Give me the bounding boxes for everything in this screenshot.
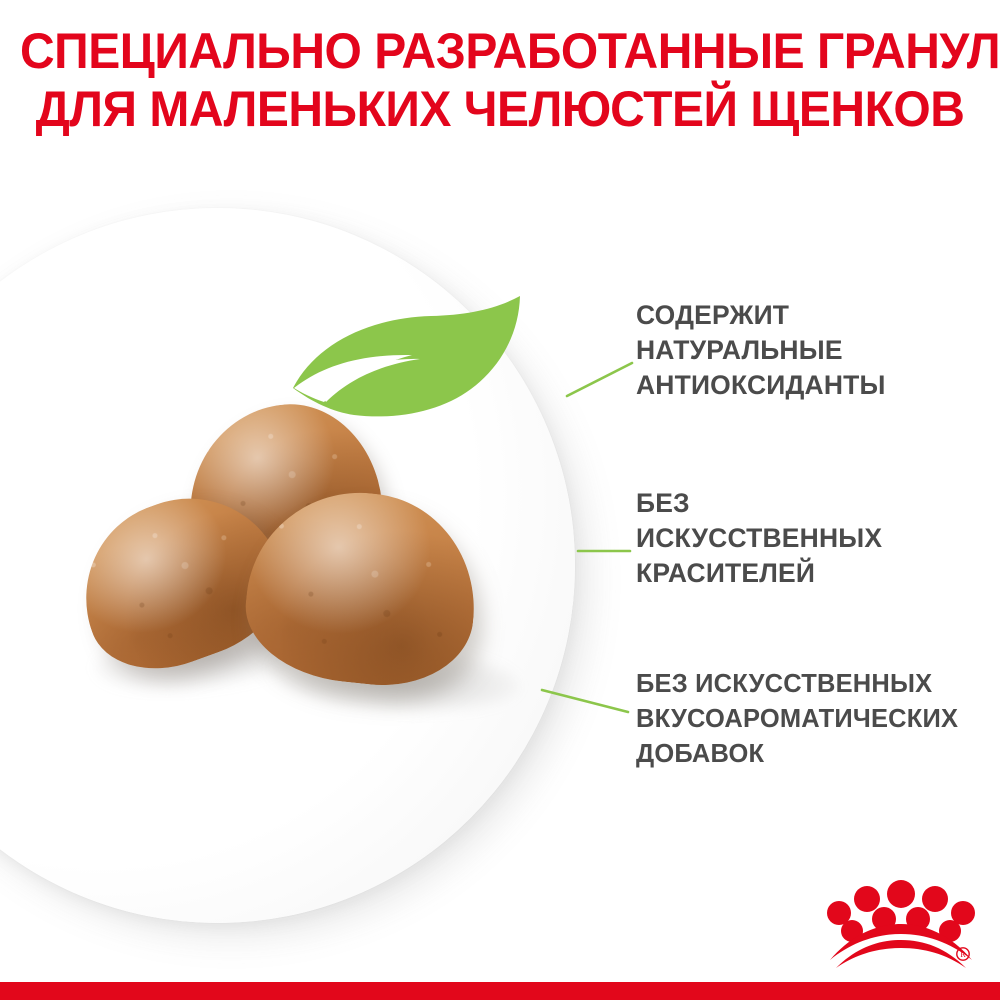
benefit-line: АНТИОКСИДАНТЫ bbox=[636, 368, 886, 403]
benefit-line: СОДЕРЖИТ bbox=[636, 298, 886, 333]
benefit-item-antioxidants: СОДЕРЖИТ НАТУРАЛЬНЫЕ АНТИОКСИДАНТЫ bbox=[636, 298, 886, 403]
poster-canvas: СПЕЦИАЛЬНО РАЗРАБОТАННЫЕ ГРАНУЛЫ ДЛЯ МАЛ… bbox=[0, 0, 1000, 1000]
benefit-line: НАТУРАЛЬНЫЕ bbox=[636, 333, 886, 368]
benefit-line: ИСКУССТВЕННЫХ bbox=[636, 521, 882, 556]
benefit-item-no-artificial-colors: БЕЗ ИСКУССТВЕННЫХ КРАСИТЕЛЕЙ bbox=[636, 486, 882, 591]
benefit-line: ДОБАВОК bbox=[636, 736, 958, 771]
benefit-item-no-artificial-flavors: БЕЗ ИСКУССТВЕННЫХ ВКУСОАРОМАТИЧЕСКИХ ДОБ… bbox=[636, 666, 958, 771]
footer-red-bar bbox=[0, 982, 1000, 1000]
page-title: СПЕЦИАЛЬНО РАЗРАБОТАННЫЕ ГРАНУЛЫ ДЛЯ МАЛ… bbox=[20, 22, 980, 138]
kibble-pieces-group bbox=[70, 395, 510, 725]
svg-text:R: R bbox=[960, 950, 966, 959]
royal-canin-crown-logo: R bbox=[826, 876, 976, 968]
benefit-line: БЕЗ ИСКУССТВЕННЫХ bbox=[636, 666, 958, 701]
connector-line-1 bbox=[567, 363, 632, 396]
benefit-line: БЕЗ bbox=[636, 486, 882, 521]
connector-line-3 bbox=[542, 690, 628, 712]
headline-line-2: ДЛЯ МАЛЕНЬКИХ ЧЕЛЮСТЕЙ ЩЕНКОВ bbox=[20, 80, 980, 138]
leaf-icon bbox=[288, 292, 528, 427]
benefit-line: ВКУСОАРОМАТИЧЕСКИХ bbox=[636, 701, 958, 736]
benefit-line: КРАСИТЕЛЕЙ bbox=[636, 556, 882, 591]
registered-trademark-mark: R bbox=[957, 948, 969, 960]
headline-line-1: СПЕЦИАЛЬНО РАЗРАБОТАННЫЕ ГРАНУЛЫ bbox=[20, 22, 980, 80]
